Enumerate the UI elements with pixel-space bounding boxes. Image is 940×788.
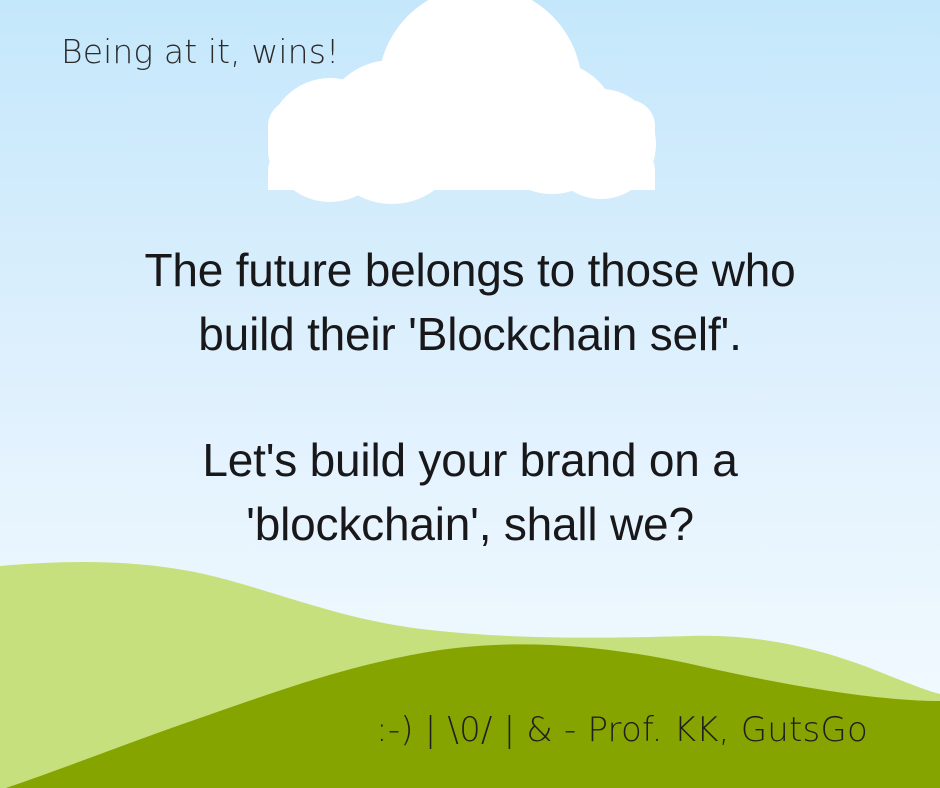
text-layer: Being at it, wins! The future belongs to… [0,0,940,788]
poster-canvas: Being at it, wins! The future belongs to… [0,0,940,788]
quote-block: The future belongs to those who build th… [0,238,940,556]
quote-line-3: Let's build your brand on a [0,428,940,492]
quote-stanza-gap [0,366,940,428]
quote-line-1: The future belongs to those who [0,238,940,302]
quote-line-2: build their 'Blockchain self'. [0,302,940,366]
signature-text: :-) | \0/ | & - Prof. KK, GutsGo [0,707,940,753]
quote-line-4: 'blockchain', shall we? [0,492,940,556]
headline-text: Being at it, wins! [61,33,339,71]
